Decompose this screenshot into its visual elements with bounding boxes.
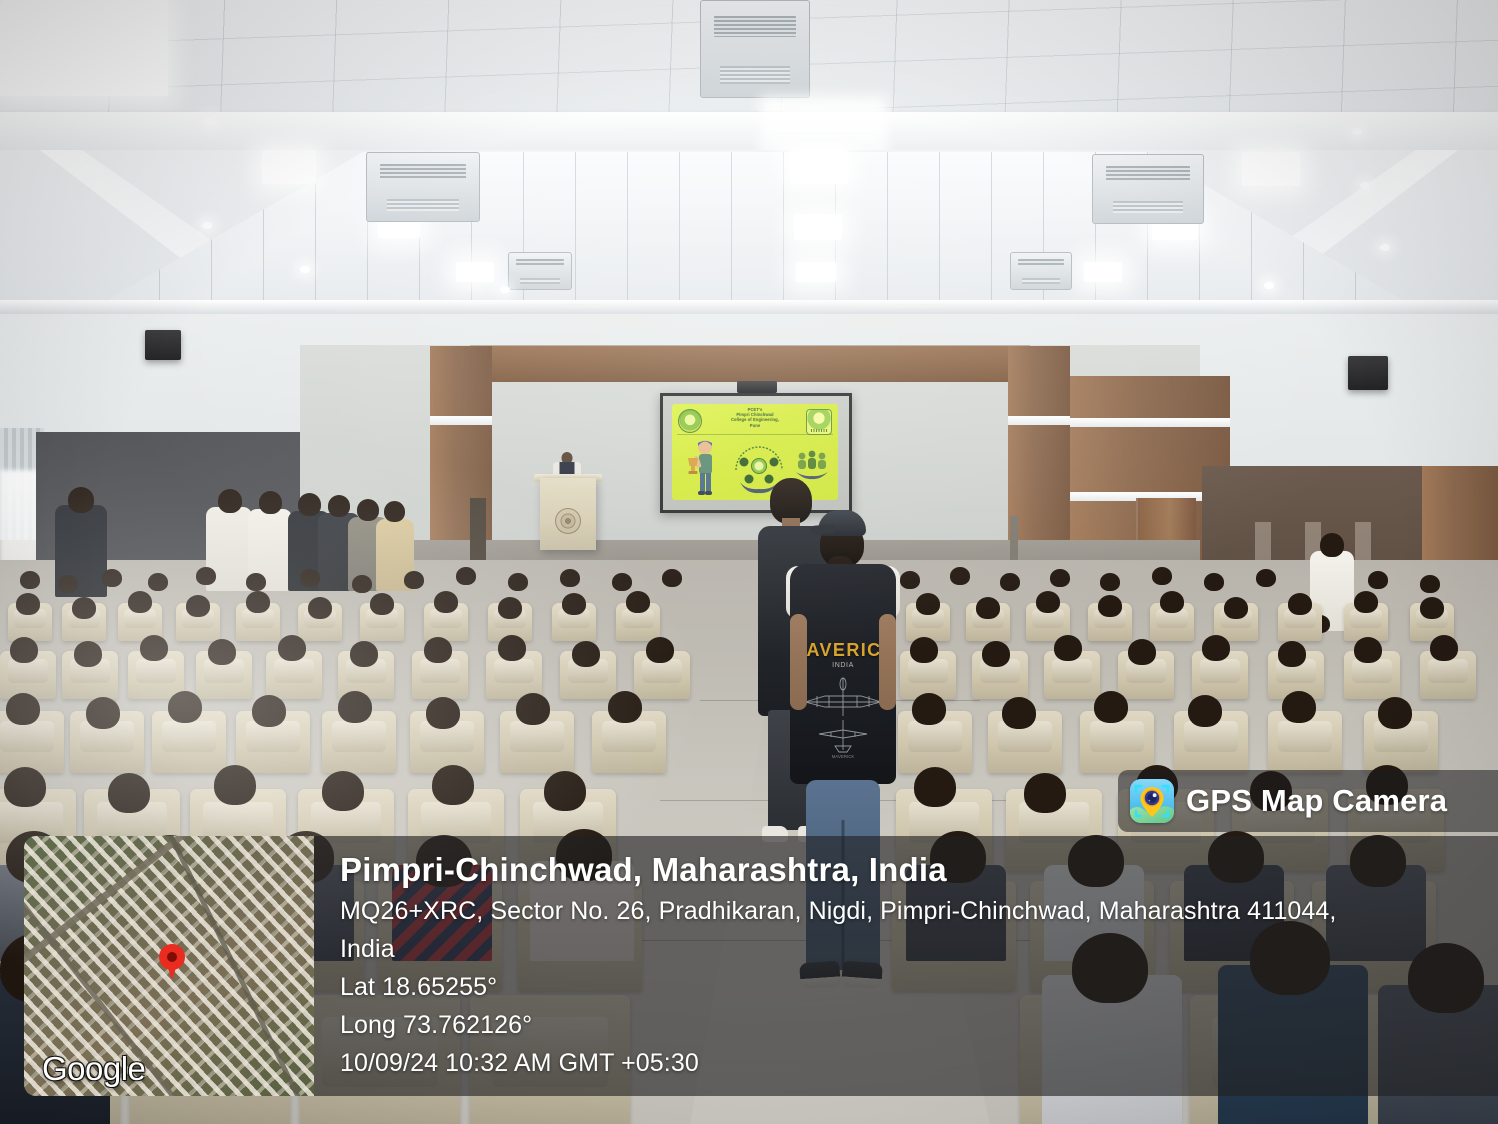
person-head [1050, 569, 1070, 587]
person-head [328, 495, 350, 517]
person-head [6, 693, 40, 725]
person-head [1000, 573, 1020, 591]
person-head [916, 593, 940, 615]
person-head [16, 593, 40, 615]
person-head [86, 697, 120, 729]
person-head [1160, 591, 1184, 613]
person-head [626, 591, 650, 613]
person-head [186, 595, 210, 617]
person-head [1024, 773, 1066, 813]
person-head [1036, 591, 1060, 613]
wall-speaker-left [145, 330, 181, 360]
ceiling-downlight [1360, 182, 1370, 189]
person-head [208, 639, 236, 665]
ceiling-ac-unit [1092, 154, 1204, 224]
baseball-cap [818, 510, 866, 536]
person-head [612, 573, 632, 591]
ceiling-ac-unit [508, 252, 572, 290]
person-head [218, 489, 242, 513]
person-head [72, 597, 96, 619]
person-head [914, 767, 956, 807]
aircraft-blueprint-graphic: MAVERICK [801, 676, 885, 762]
location-longitude: Long 73.762126° [340, 1006, 1460, 1044]
person-head [384, 501, 405, 522]
ceiling-ac-unit [700, 0, 810, 98]
pcet-emblem-icon [678, 409, 702, 433]
person-head [246, 591, 270, 613]
person-arm-right [879, 614, 896, 710]
person-head [498, 635, 526, 661]
person-head [10, 637, 38, 663]
screenshot-root: PCET's Pimpri Chinchwad College of Engin… [0, 0, 1498, 1124]
person-head [128, 591, 152, 613]
wall-trim-strip [1008, 416, 1070, 425]
ceiling-panel-light [1084, 262, 1122, 282]
ceiling-panel-light [790, 150, 848, 184]
person-head [1320, 533, 1344, 557]
pccoe-25-years-emblem-icon [806, 409, 832, 435]
location-address-line2: India [340, 930, 1460, 968]
person-head [1420, 597, 1444, 619]
person-head [300, 569, 320, 587]
person-head [544, 771, 586, 811]
person-head [1256, 569, 1276, 587]
ceiling-downlight [202, 222, 212, 229]
person-head [426, 697, 460, 729]
person-head [259, 491, 282, 514]
group-of-people-graphic [794, 448, 830, 480]
person-head [1098, 595, 1122, 617]
person-head [910, 637, 938, 663]
person-head [456, 567, 476, 585]
person-head [508, 573, 528, 591]
person-head [1420, 575, 1440, 593]
location-latitude: Lat 18.65255° [340, 968, 1460, 1006]
person-head [1282, 691, 1316, 723]
person-head [278, 635, 306, 661]
person-head [350, 641, 378, 667]
person-head [562, 593, 586, 615]
person-head [1354, 637, 1382, 663]
slide-title: PCET's Pimpri Chinchwad College of Engin… [710, 407, 800, 428]
ceiling-panel-light [262, 150, 316, 184]
watermark-title: GPS Map Camera [1186, 783, 1447, 819]
person-head [1378, 697, 1412, 729]
slide-title-line4: Pune [710, 423, 800, 428]
person-head [1288, 593, 1312, 615]
location-info-text: Pimpri-Chinchwad, Maharashtra, India MQ2… [340, 848, 1460, 1082]
wall-cornice [0, 300, 1498, 314]
person-head [1002, 697, 1036, 729]
person-head [1354, 591, 1378, 613]
person-head [357, 499, 379, 521]
ceiling-downlight [1352, 128, 1362, 135]
location-address-line1: MQ26+XRC, Sector No. 26, Pradhikaran, Ni… [340, 892, 1460, 930]
boy-with-trophy-graphic [686, 438, 718, 496]
tshirt-subtext: INDIA [832, 662, 854, 669]
person-head [322, 771, 364, 811]
svg-text:MAVERICK: MAVERICK [832, 754, 855, 759]
person-head [1202, 635, 1230, 661]
person-head [148, 573, 168, 591]
ceiling-downlight [300, 266, 310, 273]
location-pin-icon [159, 944, 185, 980]
person-head [1100, 573, 1120, 591]
person-head [338, 691, 372, 723]
person-head [102, 569, 122, 587]
ceiling-panel-light [796, 262, 836, 282]
wall-trim-strip [1070, 418, 1230, 427]
person-head [424, 637, 452, 663]
person-head [246, 573, 266, 591]
person-head [1054, 635, 1082, 661]
person-head [982, 641, 1010, 667]
wall-trim-strip [430, 416, 492, 425]
person-head [608, 691, 642, 723]
person-head [1278, 641, 1306, 667]
ceiling-ac-unit [366, 152, 480, 222]
ceiling-ac-unit [1010, 252, 1072, 290]
ceiling-downlight [500, 286, 510, 293]
stage-wood-header [430, 346, 1070, 382]
pin-center-dot [167, 952, 177, 962]
person-head [1224, 597, 1248, 619]
person-head [572, 641, 600, 667]
ceiling-panel-light [0, 0, 168, 96]
person-head [196, 567, 216, 585]
person-head [950, 567, 970, 585]
person-head [662, 569, 682, 587]
person-head [214, 765, 256, 805]
ceiling-panel-light [456, 262, 494, 282]
person-head [1430, 635, 1458, 661]
person-head [370, 593, 394, 615]
map-thumbnail: Google [24, 836, 314, 1096]
person-head [498, 597, 522, 619]
person-head [68, 487, 94, 513]
person-head [352, 575, 372, 593]
person-head [108, 773, 150, 813]
location-city: Pimpri-Chinchwad, Maharashtra, India [340, 848, 1460, 892]
person-head [1128, 639, 1156, 665]
person-head [74, 641, 102, 667]
person-head [252, 695, 286, 727]
ceiling-downlight [1380, 244, 1390, 251]
gps-map-camera-logo-icon [1130, 779, 1174, 823]
person-arm-left [790, 614, 807, 710]
person-head [516, 693, 550, 725]
institution-emblem-icon [555, 508, 581, 534]
ceiling-downlight [1264, 282, 1274, 289]
person-head [140, 635, 168, 661]
ceiling-panel-light [794, 214, 842, 240]
slide-divider [677, 434, 833, 435]
person-head [1204, 573, 1224, 591]
person-head [434, 591, 458, 613]
google-attribution: Google [42, 1050, 145, 1088]
gps-map-camera-watermark: GPS Map Camera [1118, 770, 1498, 832]
logo-svg [1130, 779, 1174, 823]
person-head [900, 571, 920, 589]
person-head [4, 767, 46, 807]
person-head [168, 691, 202, 723]
person-head [646, 637, 674, 663]
person-head [432, 765, 474, 805]
ceiling-panel-light [1242, 152, 1300, 186]
person-head [20, 571, 40, 589]
person-head [1094, 691, 1128, 723]
person-head [1152, 567, 1172, 585]
person-head [298, 493, 321, 516]
podium [540, 478, 596, 550]
person-head [1188, 695, 1222, 727]
person-head [404, 571, 424, 589]
projector-screen-roller [737, 381, 777, 393]
person-head [58, 575, 78, 593]
person-head [912, 693, 946, 725]
pin-tail [166, 962, 178, 980]
capture-timestamp: 10/09/24 10:32 AM GMT +05:30 [340, 1044, 1460, 1082]
wall-speaker-right [1348, 356, 1388, 390]
person-head [976, 597, 1000, 619]
person-head [560, 569, 580, 587]
ceiling-downlight [206, 118, 216, 125]
person-head [308, 597, 332, 619]
person-head [1368, 571, 1388, 589]
